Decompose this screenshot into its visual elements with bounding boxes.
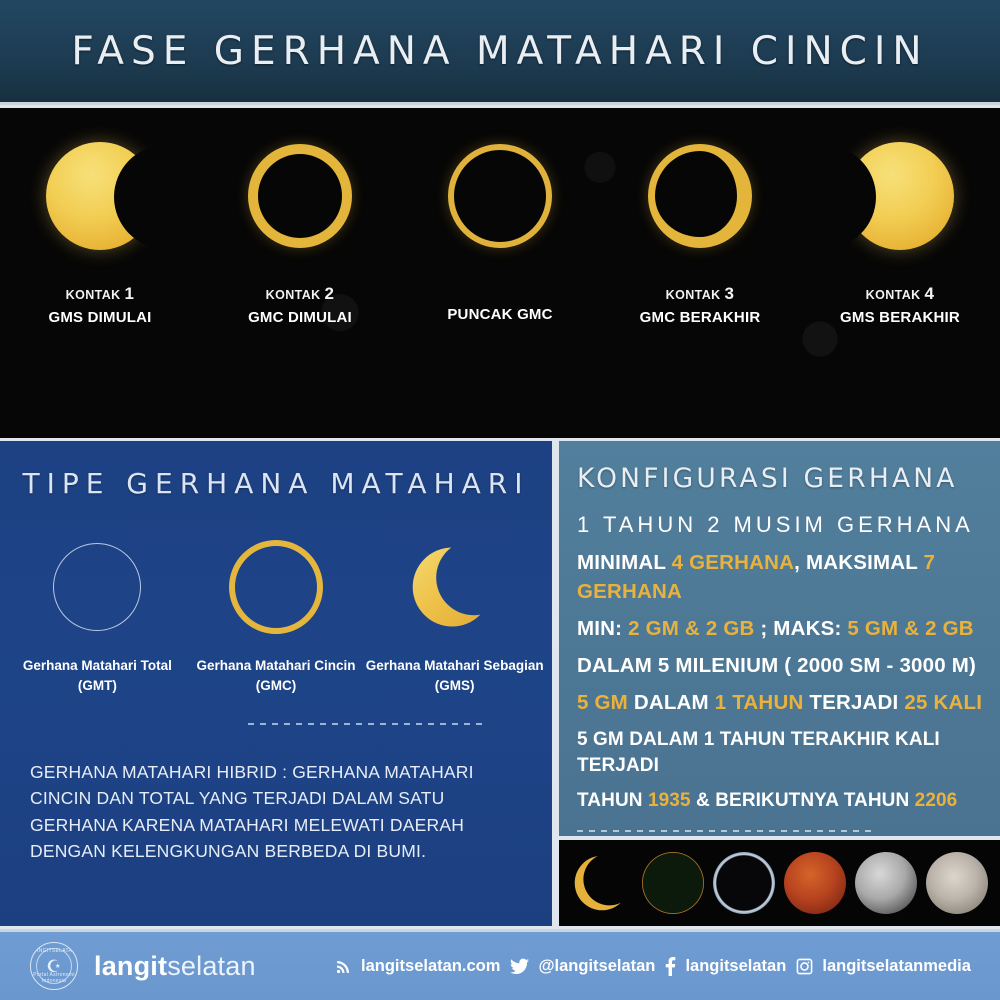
phase-name-2: GMC DIMULAI [248, 307, 352, 329]
config-line-last-occurrence: 5 GM DALAM 1 TAHUN TERAKHIR KALI TERJADI [577, 727, 986, 779]
phase-item-3: PUNCAK GMC [400, 136, 600, 326]
phase-name-4: GMC BERAKHIR [640, 307, 761, 329]
facebook-icon [665, 957, 676, 976]
instagram-icon [796, 958, 813, 975]
ring-thin-icon [440, 136, 560, 256]
sun-bite-left-icon [840, 136, 960, 256]
phase-item-4: KONTAK 3 GMC BERAKHIR [600, 136, 800, 328]
phase-contact-5: KONTAK 4 [840, 282, 960, 307]
twitter-icon [510, 958, 529, 975]
type-item-gmc: Gerhana Matahari Cincin(GMC) [187, 534, 366, 697]
ring-offset-icon [640, 136, 760, 256]
types-panel-title: TIPE GERHANA MATAHARI [0, 467, 552, 500]
social-link-twitter[interactable]: @langitselatan [510, 957, 655, 976]
phase-item-2: KONTAK 2 GMC DIMULAI [200, 136, 400, 328]
crescent-shape [408, 538, 502, 636]
brand-name-bold: langit [94, 951, 167, 981]
social-label-twitter: @langitselatan [538, 957, 655, 976]
langitselatan-logo-icon: LANGITSELATAN ☪ Portal Astronomi Indones… [30, 942, 78, 990]
config-line-minmax-detail: MIN: 2 GM & 2 GB ; MAKS: 5 GM & 2 GB [577, 615, 986, 643]
circle-outline-icon [44, 534, 150, 640]
type-item-gms: Gerhana Matahari Sebagian(GMS) [365, 534, 544, 697]
phase-contact-2: KONTAK 2 [248, 282, 352, 307]
type-label-gmc: Gerhana Matahari Cincin(GMC) [196, 656, 355, 697]
config-panel-divider [577, 830, 877, 832]
social-label-instagram: langitselatanmedia [822, 957, 971, 976]
logo-top-text: LANGITSELATAN [31, 948, 77, 954]
rss-icon [335, 958, 352, 975]
phase-name-1: GMS DIMULAI [48, 307, 151, 329]
eclipse-photo-strip [559, 840, 1000, 926]
social-label-website: langitselatan.com [361, 957, 500, 976]
config-line-minmax: MINIMAL 4 GERHANA, MAKSIMAL 7 GERHANA [577, 549, 986, 606]
annular-eclipse-photo [642, 852, 704, 914]
social-link-website[interactable]: langitselatan.com [335, 957, 500, 976]
phase-item-1: KONTAK 1 GMS DIMULAI [0, 136, 200, 328]
config-line-frequency: 5 GM DALAM 1 TAHUN TERJADI 25 KALI [577, 689, 986, 717]
type-label-gms: Gerhana Matahari Sebagian(GMS) [366, 656, 544, 697]
hybrid-eclipse-description: GERHANA MATAHARI HIBRID : GERHANA MATAHA… [30, 759, 522, 865]
page-title: FASE GERHANA MATAHARI CINCIN [71, 29, 928, 74]
social-label-facebook: langitselatan [685, 957, 786, 976]
config-line-season: 1 TAHUN 2 MUSIM GERHANA [577, 510, 986, 540]
brand-name-light: selatan [167, 951, 255, 981]
crescent-sun-shape [571, 852, 633, 914]
config-panel-title: KONFIGURASI GERHANA [577, 463, 986, 494]
left-panel-divider [248, 723, 488, 725]
config-line-next-occurrence: TAHUN 1935 & BERIKUTNYA TAHUN 2206 [577, 788, 986, 814]
poster-header: FASE GERHANA MATAHARI CINCIN [0, 0, 1000, 105]
crescent-sun-photo [571, 852, 633, 914]
social-link-instagram[interactable]: langitselatanmedia [796, 957, 971, 976]
blood-moon-photo [784, 852, 846, 914]
types-row: Gerhana Matahari Total(GMT) Gerhana Mata… [0, 534, 552, 697]
brand-block[interactable]: LANGITSELATAN ☪ Portal Astronomi Indones… [30, 942, 330, 990]
phase-item-5: KONTAK 4 GMS BERAKHIR [800, 136, 1000, 328]
infographic-poster: FASE GERHANA MATAHARI CINCIN KONTAK 1 GM… [0, 0, 1000, 1000]
type-label-gmt: Gerhana Matahari Total(GMT) [23, 656, 172, 697]
crescent-icon [402, 534, 508, 640]
phase-contact-1: KONTAK 1 [48, 282, 151, 307]
partial-lunar-eclipse-photo [855, 852, 917, 914]
full-moon-photo [926, 852, 988, 914]
eclipse-types-panel: TIPE GERHANA MATAHARI Gerhana Matahari T… [0, 441, 552, 926]
phase-name-3: PUNCAK GMC [447, 304, 552, 326]
logo-bottom-text: Portal Astronomi Indonesia [31, 972, 77, 984]
eclipse-phases-section: KONTAK 1 GMS DIMULAI KONTAK 2 GMC DIMULA… [0, 108, 1000, 438]
social-link-facebook[interactable]: langitselatan [665, 957, 786, 976]
poster-footer: LANGITSELATAN ☪ Portal Astronomi Indones… [0, 929, 1000, 1000]
sun-bite-right-icon [40, 136, 160, 256]
config-line-millennium: DALAM 5 MILENIUM ( 2000 SM - 3000 M) [577, 652, 986, 680]
eclipse-config-panel: KONFIGURASI GERHANA 1 TAHUN 2 MUSIM GERH… [559, 441, 1000, 836]
total-solar-eclipse-photo [713, 852, 775, 914]
phase-contact-4: KONTAK 3 [640, 282, 761, 307]
ring-thick-icon [240, 136, 360, 256]
type-item-gmt: Gerhana Matahari Total(GMT) [8, 534, 187, 697]
phase-name-5: GMS BERAKHIR [840, 307, 960, 329]
gold-ring-icon [223, 534, 329, 640]
social-links: langitselatan.com @langitselatan langits… [330, 957, 1000, 976]
brand-name: langitselatan [94, 951, 256, 982]
